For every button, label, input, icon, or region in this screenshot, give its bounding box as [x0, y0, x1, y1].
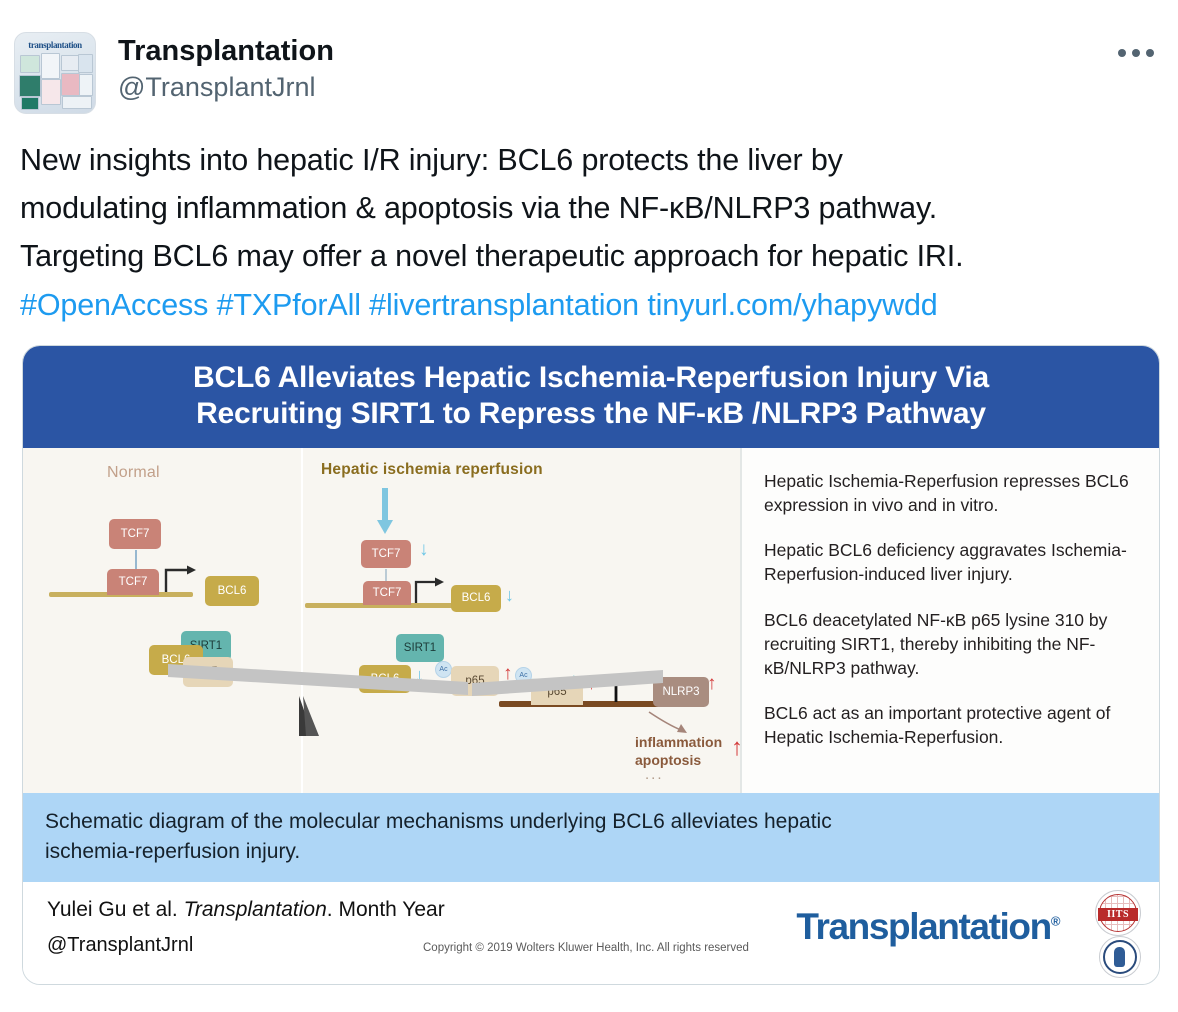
node-tcf7-bound: TCF7	[363, 581, 411, 605]
outcome-label: inflammation apoptosis	[635, 734, 722, 770]
wordmark-text: Transplantation	[796, 906, 1050, 947]
avatar[interactable]: transplantation	[14, 32, 96, 114]
figure-caption: Schematic diagram of the molecular mecha…	[23, 793, 1159, 883]
caption-line-2: ischemia-reperfusion injury.	[45, 840, 300, 863]
node-p65-dna: p65	[531, 679, 583, 705]
down-arrow-tcf7: ↓	[419, 540, 429, 559]
panel-hir-title: Hepatic ischemia reperfusion	[321, 461, 543, 479]
infographic-banner: BCL6 Alleviates Hepatic Ischemia-Reperfu…	[23, 346, 1159, 448]
citation-date: . Month Year	[327, 898, 445, 921]
avatar-thumb	[21, 97, 39, 110]
finding-4: BCL6 act as an important protective agen…	[764, 702, 1139, 750]
schematic-figure: Normal TCF7 TCF7 BCL6 SIRT1 BCL6 p65	[23, 448, 1159, 793]
avatar-thumb	[41, 53, 60, 79]
tweet-line-3: Targeting BCL6 may offer a novel therape…	[20, 239, 963, 273]
dot	[1132, 49, 1140, 57]
acetyl-badge-icon: Ac	[435, 661, 452, 678]
node-bcl6-gene: BCL6	[205, 576, 259, 606]
outcome-inflammation: inflammation	[635, 734, 722, 750]
banner-line-2: Recruiting SIRT1 to Repress the NF-κB /N…	[49, 396, 1133, 432]
avatar-thumb	[78, 54, 93, 73]
account-handle[interactable]: @TransplantJrnl	[118, 71, 334, 105]
down-arrow-bcl6-complex: ↓	[415, 666, 424, 684]
outcome-arrow-icon	[647, 710, 691, 736]
hashtag-livertransplantation[interactable]: #livertransplantation	[369, 288, 639, 322]
node-p65-free: p65	[451, 666, 499, 696]
transplantation-wordmark: Transplantation®	[796, 906, 1059, 948]
node-tcf7-free: TCF7	[361, 540, 411, 568]
emblem-figure	[1114, 947, 1125, 967]
transcription-arrow-hir	[413, 576, 447, 606]
society-emblem-logo-icon	[1099, 936, 1141, 978]
stimulus-arrow-icon	[376, 488, 394, 536]
tweet-header: transplantation Transplantation @Transpl…	[0, 0, 1178, 114]
avatar-thumb	[20, 55, 40, 73]
node-sirt1: SIRT1	[396, 634, 444, 662]
dot	[1146, 49, 1154, 57]
transcription-arrow-normal	[163, 564, 199, 594]
citation-journal: Transplantation	[184, 898, 327, 921]
caption-line-1: Schematic diagram of the molecular mecha…	[45, 810, 832, 833]
node-tcf7-bound: TCF7	[107, 569, 159, 595]
node-bcl6-gene: BCL6	[451, 585, 501, 612]
tweet-line-1: New insights into hepatic I/R injury: BC…	[20, 143, 843, 177]
avatar-thumb	[79, 74, 93, 96]
panel-key-findings: Hepatic Ischemia-Reperfusion represses B…	[740, 448, 1159, 793]
avatar-thumb	[61, 73, 80, 96]
up-arrow-p65: ↑	[503, 664, 513, 683]
registered-mark: ®	[1051, 914, 1059, 929]
up-arrow-nlrp3: ↑	[707, 674, 717, 693]
panel-hepatic-ischemia-reperfusion: Hepatic ischemia reperfusion TCF7 ↓ TCF7	[301, 448, 740, 793]
transcription-arrow-nlrp3	[613, 670, 651, 704]
avatar-thumb	[62, 96, 92, 109]
copyright-notice: Copyright © 2019 Wolters Kluwer Health, …	[423, 942, 749, 954]
finding-1: Hepatic Ischemia-Reperfusion represses B…	[764, 470, 1139, 518]
citation: Yulei Gu et al. Transplantation. Month Y…	[47, 898, 445, 922]
infographic-footer: Yulei Gu et al. Transplantation. Month Y…	[23, 882, 1159, 984]
outcome-ellipsis: ...	[645, 766, 664, 783]
banner-line-1: BCL6 Alleviates Hepatic Ischemia-Reperfu…	[49, 360, 1133, 396]
dot	[1118, 49, 1126, 57]
avatar-title: transplantation	[15, 40, 95, 50]
node-p65: p65	[183, 657, 233, 687]
tweet-line-2: modulating inflammation & apoptosis via …	[20, 191, 937, 225]
infographic-card[interactable]: BCL6 Alleviates Hepatic Ischemia-Reperfu…	[22, 345, 1160, 986]
iits-globe-logo-icon: IITS	[1095, 890, 1141, 936]
hashtag-openaccess[interactable]: #OpenAccess	[20, 288, 208, 322]
acetyl-badge-icon: Ac	[515, 667, 532, 684]
avatar-thumb	[19, 75, 41, 97]
iits-logo-text: IITS	[1098, 908, 1138, 921]
node-tcf7-free: TCF7	[109, 519, 161, 549]
tweet-card: transplantation Transplantation @Transpl…	[0, 0, 1178, 1012]
hashtag-txpforall[interactable]: #TXPforAll	[217, 288, 361, 322]
finding-2: Hepatic BCL6 deficiency aggravates Ische…	[764, 539, 1139, 587]
node-nlrp3: NLRP3	[653, 677, 709, 707]
node-bcl6-complex: BCL6	[359, 665, 411, 693]
tweet-text: New insights into hepatic I/R injury: BC…	[20, 136, 1160, 329]
panel-normal-title: Normal	[107, 464, 160, 482]
citation-authors: Yulei Gu et al.	[47, 898, 178, 921]
display-name[interactable]: Transplantation	[118, 34, 334, 68]
finding-3: BCL6 deacetylated NF-κB p65 lysine 310 b…	[764, 609, 1139, 680]
down-arrow-bcl6-gene: ↓	[505, 586, 514, 604]
account-name-block: Transplantation @TransplantJrnl	[118, 32, 334, 105]
up-arrow-p65-dna: ↑	[587, 674, 596, 692]
up-arrow-outcome: ↑	[731, 736, 743, 760]
panel-normal: Normal TCF7 TCF7 BCL6 SIRT1 BCL6 p65	[23, 448, 301, 793]
footer-handle: @TransplantJrnl	[47, 934, 193, 957]
avatar-thumb	[61, 55, 79, 71]
tweet-url[interactable]: tinyurl.com/yhapywdd	[647, 288, 937, 322]
avatar-thumb	[41, 79, 61, 105]
more-options-icon[interactable]	[1118, 42, 1154, 64]
